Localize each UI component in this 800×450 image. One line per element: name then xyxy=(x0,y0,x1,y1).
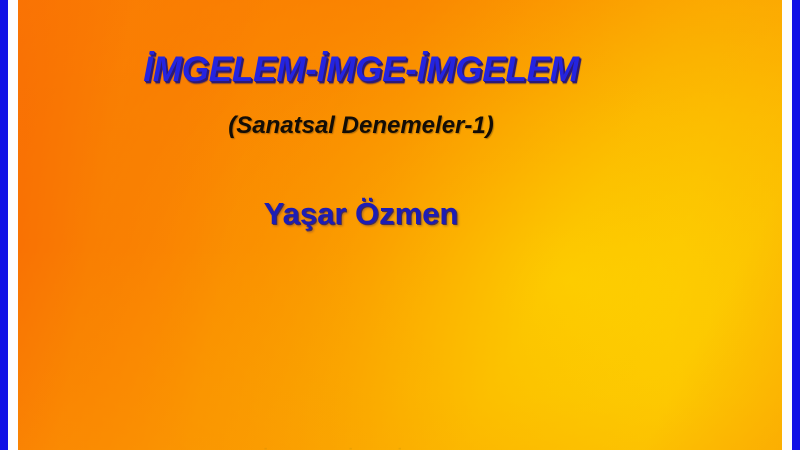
slide-subtitle: (Sanatsal Denemeler-1) xyxy=(18,112,782,140)
text-block: İMGELEM-İMGE-İMGELEM (Sanatsal Denemeler… xyxy=(18,0,782,450)
left-white-gap xyxy=(8,0,18,450)
right-blue-border-bar xyxy=(792,0,800,450)
title-slide: İMGELEM-İMGE-İMGELEM (Sanatsal Denemeler… xyxy=(0,0,800,450)
right-white-gap xyxy=(782,0,792,450)
author-name: Yaşar Özmen xyxy=(18,196,782,232)
left-blue-border-bar xyxy=(0,0,8,450)
slide-title: İMGELEM-İMGE-İMGELEM xyxy=(18,50,782,90)
